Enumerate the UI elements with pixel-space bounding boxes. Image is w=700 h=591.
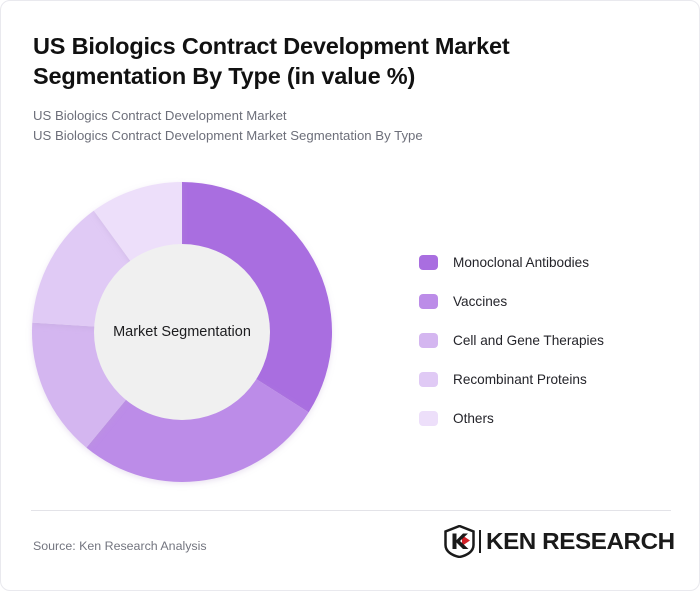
legend-swatch-icon [419, 372, 438, 387]
legend-swatch-icon [419, 255, 438, 270]
legend-item[interactable]: Vaccines [419, 282, 669, 321]
legend-swatch-icon [419, 333, 438, 348]
legend-item-label: Monoclonal Antibodies [453, 255, 589, 270]
ken-research-logo-mark-icon [444, 525, 475, 558]
subtitle-line-2: US Biologics Contract Development Market… [33, 126, 669, 146]
legend-item-label: Vaccines [453, 294, 507, 309]
chart-legend: Monoclonal AntibodiesVaccinesCell and Ge… [419, 243, 669, 438]
chart-card: US Biologics Contract Development Market… [0, 0, 700, 591]
legend-swatch-icon [419, 294, 438, 309]
donut-svg [32, 182, 332, 482]
legend-swatch-icon [419, 411, 438, 426]
subtitle-block: US Biologics Contract Development Market… [33, 106, 669, 146]
ken-research-logo: KEN RESEARCH [444, 524, 669, 558]
legend-item[interactable]: Others [419, 399, 669, 438]
logo-separator [479, 530, 481, 553]
legend-item[interactable]: Cell and Gene Therapies [419, 321, 669, 360]
footer-divider [31, 510, 671, 511]
page-title: US Biologics Contract Development Market… [33, 31, 563, 91]
legend-item[interactable]: Recombinant Proteins [419, 360, 669, 399]
donut-chart: Market Segmentation [32, 182, 332, 482]
legend-item-label: Others [453, 411, 494, 426]
donut-center-hole [94, 244, 270, 420]
legend-item-label: Recombinant Proteins [453, 372, 587, 387]
logo-wordmark: KEN RESEARCH [486, 528, 675, 555]
chart-plot-area: Market Segmentation Monoclonal Antibodie… [1, 161, 700, 506]
subtitle-line-1: US Biologics Contract Development Market [33, 106, 669, 126]
legend-item[interactable]: Monoclonal Antibodies [419, 243, 669, 282]
source-note: Source: Ken Research Analysis [33, 539, 207, 553]
chart-header: US Biologics Contract Development Market… [33, 31, 669, 146]
legend-item-label: Cell and Gene Therapies [453, 333, 604, 348]
